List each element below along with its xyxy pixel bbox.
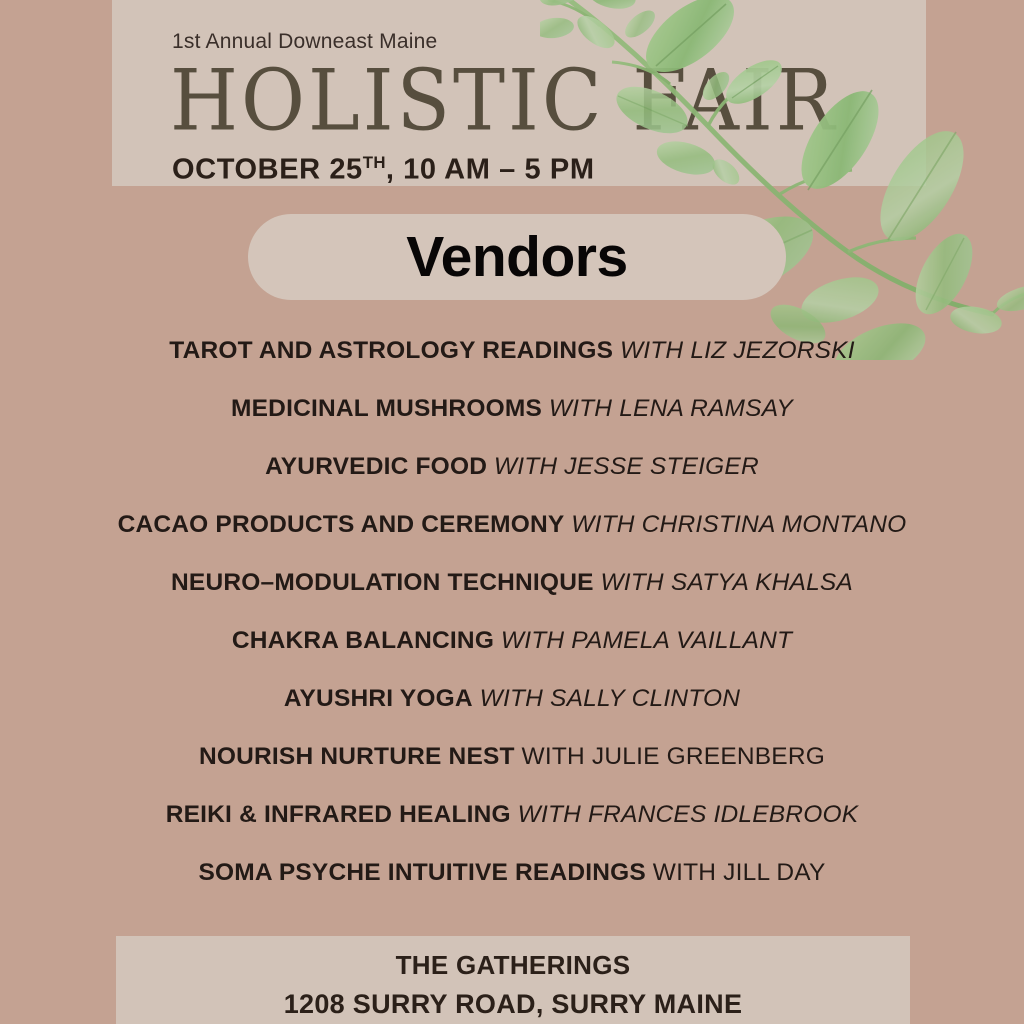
vendor-practitioner: WITH LIZ JEZORSKI — [620, 337, 855, 364]
vendor-practitioner: WITH CHRISTINA MONTANO — [571, 511, 906, 538]
page-title: HOLISTIC FAIR — [170, 58, 838, 144]
vendor-practitioner: WITH JULIE GREENBERG — [522, 743, 825, 770]
date-ordinal: TH — [363, 153, 386, 172]
vendor-row: MEDICINAL MUSHROOMS WITH LENA RAMSAY — [0, 380, 1024, 438]
vendor-row: AYUSHRI YOGA WITH SALLY CLINTON — [0, 670, 1024, 728]
vendor-name: AYURVEDIC FOOD — [265, 453, 487, 480]
vendor-name: TAROT AND ASTROLOGY READINGS — [169, 337, 613, 364]
event-eyebrow: 1st Annual Downeast Maine — [172, 30, 437, 54]
vendor-row: NEURO–MODULATION TECHNIQUE WITH SATYA KH… — [0, 554, 1024, 612]
vendor-practitioner: WITH SATYA KHALSA — [600, 569, 853, 596]
date-prefix: OCTOBER 25 — [172, 154, 363, 186]
vendor-practitioner: WITH LENA RAMSAY — [549, 395, 793, 422]
vendor-name: NOURISH NURTURE NEST — [199, 743, 515, 770]
vendor-row: REIKI & INFRARED HEALING WITH FRANCES ID… — [0, 786, 1024, 844]
vendor-practitioner: WITH JILL DAY — [653, 859, 826, 886]
vendor-row: SOMA PSYCHE INTUITIVE READINGS WITH JILL… — [0, 844, 1024, 902]
vendor-name: NEURO–MODULATION TECHNIQUE — [171, 569, 594, 596]
vendor-name: REIKI & INFRARED HEALING — [166, 801, 511, 828]
vendor-row: CHAKRA BALANCING WITH PAMELA VAILLANT — [0, 612, 1024, 670]
vendor-practitioner: WITH PAMELA VAILLANT — [501, 627, 792, 654]
venue-name: THE GATHERINGS — [116, 936, 910, 981]
vendor-practitioner: WITH FRANCES IDLEBROOK — [518, 801, 859, 828]
vendor-name: SOMA PSYCHE INTUITIVE READINGS — [198, 859, 646, 886]
vendor-row: TAROT AND ASTROLOGY READINGS WITH LIZ JE… — [0, 322, 1024, 380]
header-panel: 1st Annual Downeast Maine HOLISTIC FAIR … — [112, 0, 926, 186]
event-date-time: OCTOBER 25TH, 10 AM – 5 PM — [172, 153, 595, 187]
poster-canvas: 1st Annual Downeast Maine HOLISTIC FAIR … — [0, 0, 1024, 1024]
venue-address: 1208 SURRY ROAD, SURRY MAINE — [116, 981, 910, 1020]
date-suffix: , 10 AM – 5 PM — [386, 154, 595, 186]
vendors-heading: Vendors — [248, 226, 786, 288]
vendors-section-pill: Vendors — [248, 214, 786, 300]
footer-panel: THE GATHERINGS 1208 SURRY ROAD, SURRY MA… — [116, 936, 910, 1024]
vendor-name: CHAKRA BALANCING — [232, 627, 494, 654]
vendor-row: AYURVEDIC FOOD WITH JESSE STEIGER — [0, 438, 1024, 496]
vendor-practitioner: WITH SALLY CLINTON — [480, 685, 740, 712]
vendor-row: CACAO PRODUCTS AND CEREMONY WITH CHRISTI… — [0, 496, 1024, 554]
vendor-name: AYUSHRI YOGA — [284, 685, 473, 712]
vendor-name: CACAO PRODUCTS AND CEREMONY — [118, 511, 565, 538]
vendor-list: TAROT AND ASTROLOGY READINGS WITH LIZ JE… — [0, 322, 1024, 902]
vendor-name: MEDICINAL MUSHROOMS — [231, 395, 542, 422]
vendor-practitioner: WITH JESSE STEIGER — [494, 453, 759, 480]
vendor-row: NOURISH NURTURE NEST WITH JULIE GREENBER… — [0, 728, 1024, 786]
